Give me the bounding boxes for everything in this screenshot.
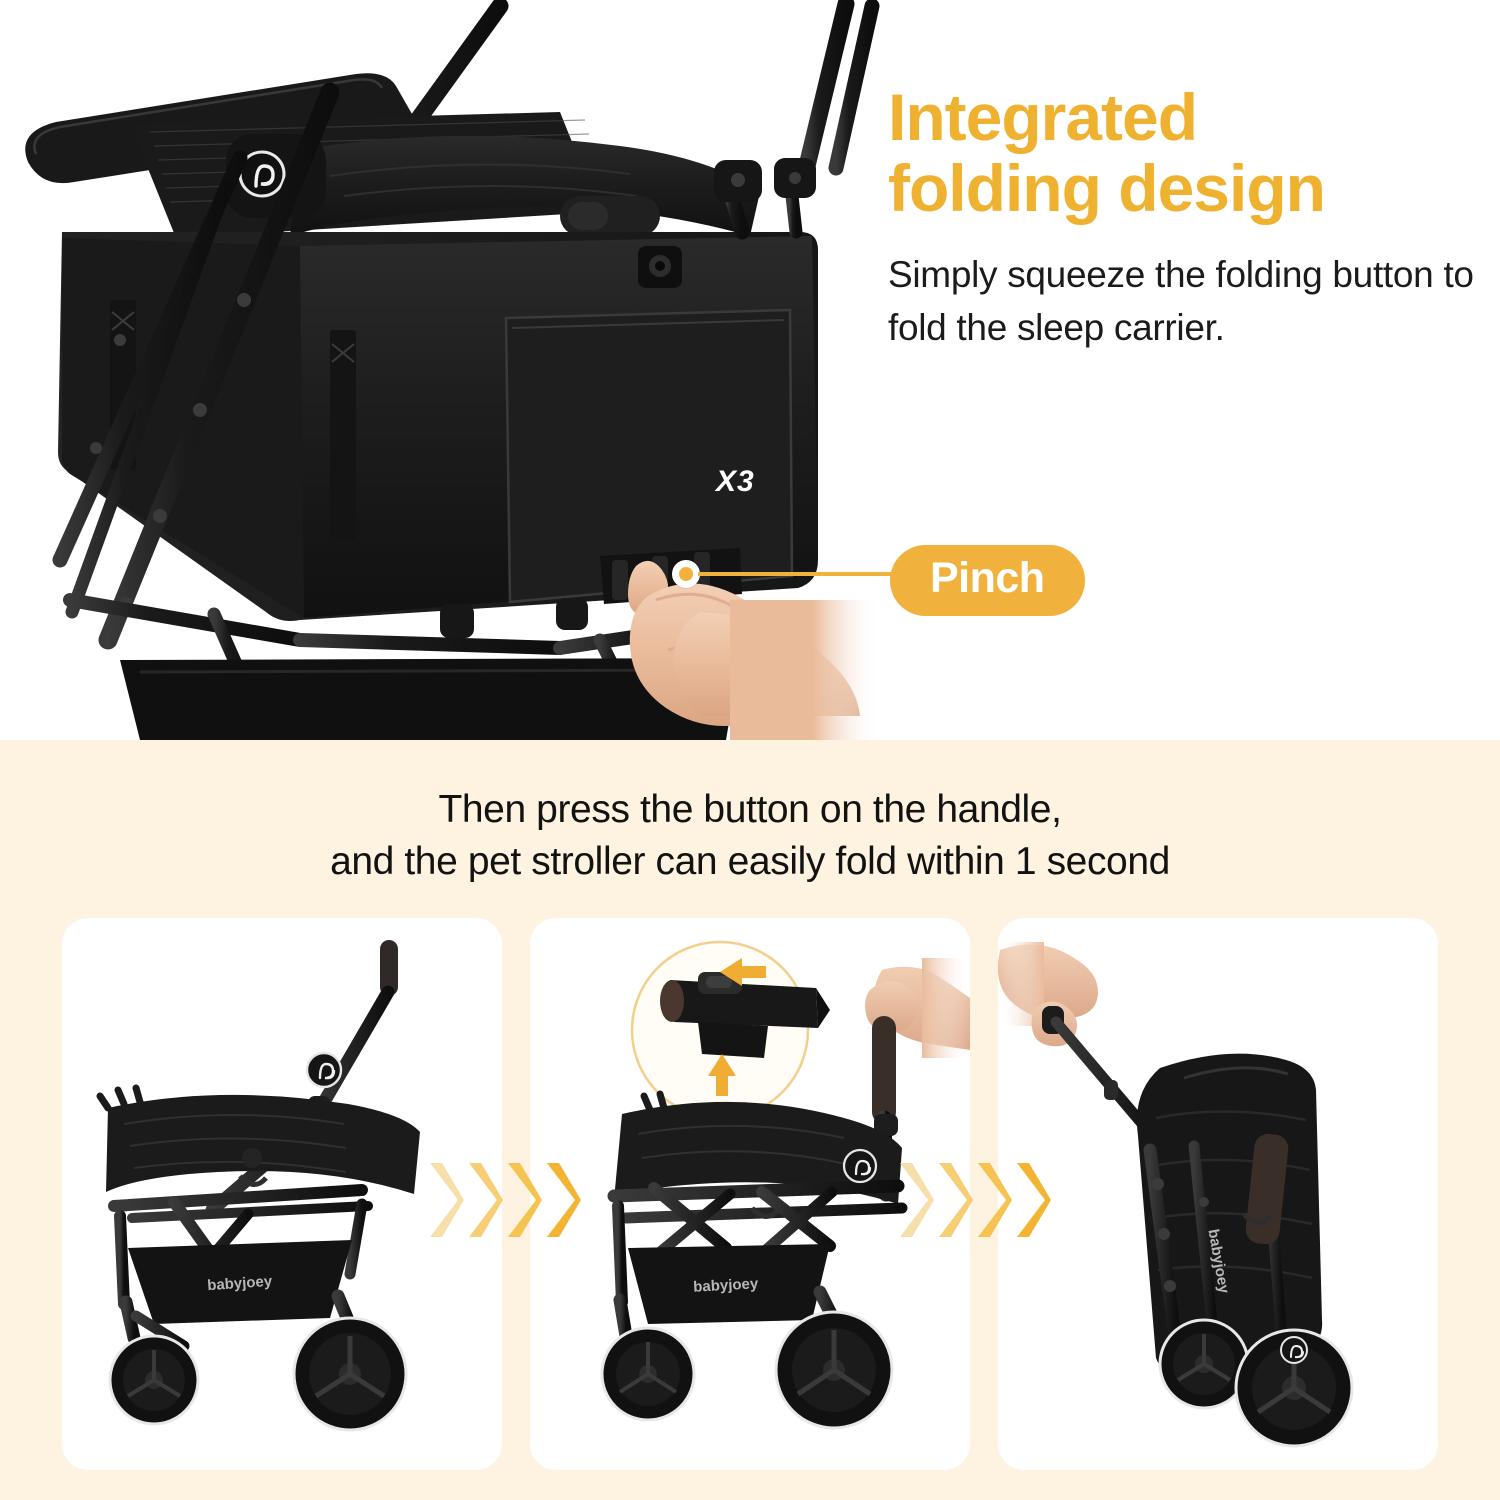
step-card-3: babyjoey: [998, 918, 1438, 1470]
chevron-right-icon: [545, 1159, 582, 1241]
chevron-right-icon: [467, 1159, 504, 1241]
chevron-right-icon: [428, 1159, 465, 1241]
chevron-right-icon: [976, 1159, 1013, 1241]
page-title: Integrated folding design: [888, 82, 1488, 223]
chevron-right-icon: [506, 1159, 543, 1241]
steps-caption-line-1: Then press the button on the handle,: [438, 788, 1061, 831]
hero-copy: Integrated folding design Simply squeeze…: [888, 82, 1488, 354]
steps-section: Then press the button on the handle, and…: [0, 740, 1500, 1500]
steps-card-row: babyjoey: [0, 918, 1500, 1478]
chevron-arrows-2: [898, 1140, 1054, 1260]
chevron-arrows-1: [428, 1140, 584, 1260]
pinch-badge: Pinch: [890, 545, 1085, 616]
product-model-label: X3: [716, 465, 755, 499]
hero-section: Integrated folding design Simply squeeze…: [0, 0, 1500, 740]
title-line-1: Integrated: [888, 80, 1197, 154]
chevron-right-icon: [1015, 1159, 1052, 1241]
callout-dot-icon: [672, 560, 700, 588]
title-line-2: folding design: [888, 151, 1325, 225]
infographic-page: Integrated folding design Simply squeeze…: [0, 0, 1500, 1500]
steps-caption-line-2: and the pet stroller can easily fold wit…: [330, 840, 1170, 883]
sleep-carrier-photo: [0, 0, 880, 740]
hero-subtitle: Simply squeeze the folding button to fol…: [888, 249, 1488, 354]
steps-caption: Then press the button on the handle, and…: [0, 784, 1500, 888]
svg-text:babyjoey: babyjoey: [693, 1275, 759, 1295]
chevron-right-icon: [898, 1159, 935, 1241]
callout-leader-line: [698, 572, 896, 576]
chevron-right-icon: [937, 1159, 974, 1241]
